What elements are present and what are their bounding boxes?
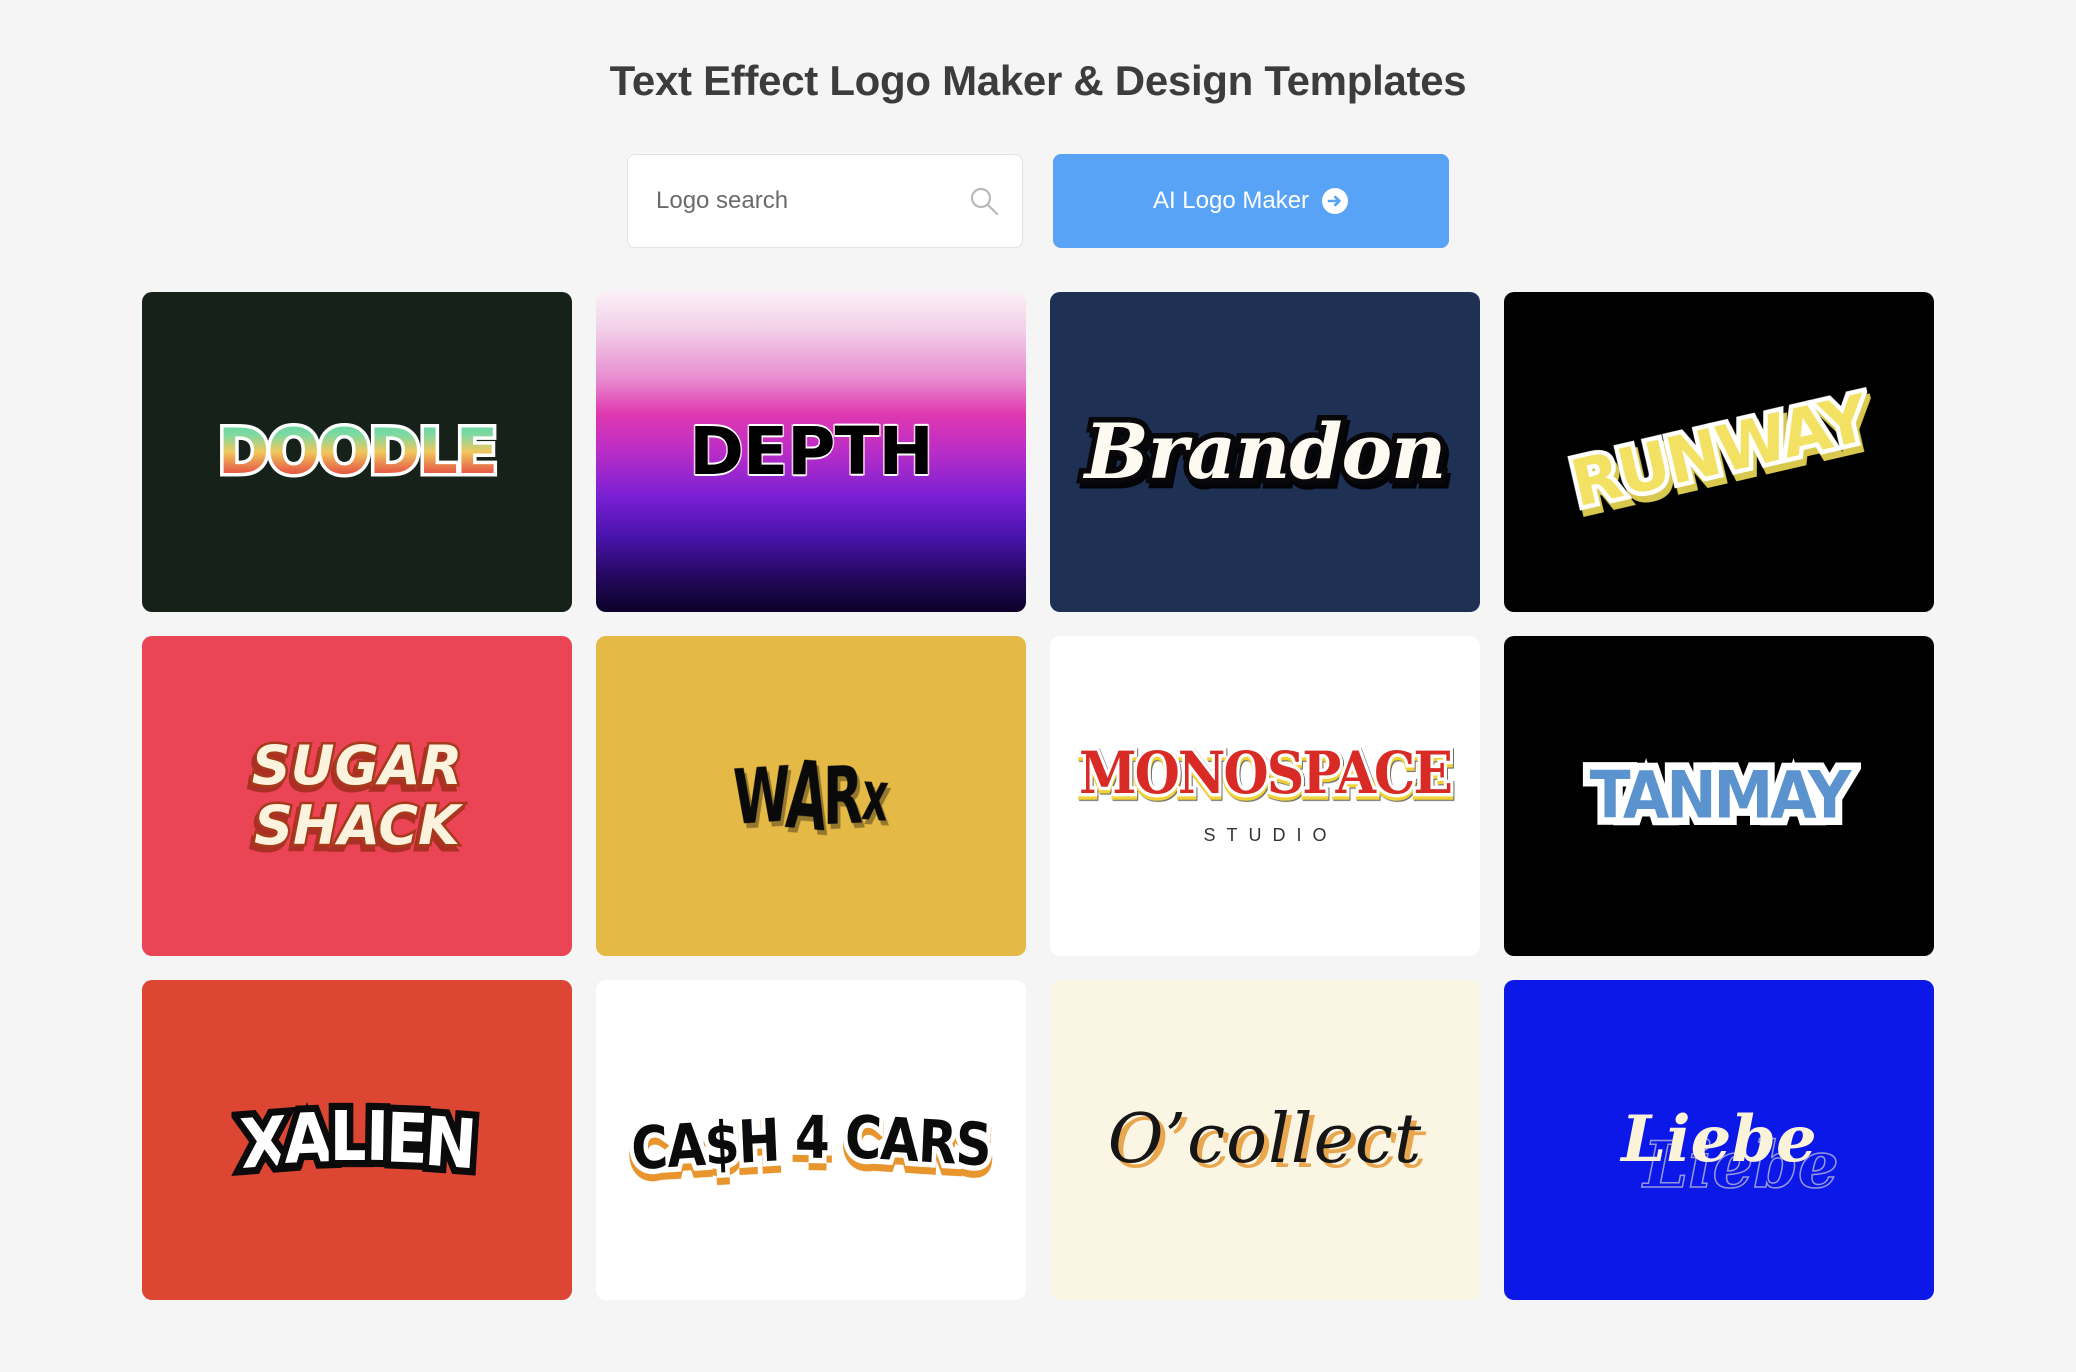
monospace-subtitle: STUDIO — [1192, 826, 1337, 844]
logo-card-sugar-shack[interactable]: SUGAR SHACK — [142, 636, 572, 956]
xalien-text: XALIEN — [240, 1106, 475, 1174]
xalien-letter: X — [238, 1108, 287, 1179]
monospace-text: MONOSPACE — [1079, 745, 1451, 803]
logo-artwork-monospace-studio: MONOSPACE STUDIO — [1079, 748, 1451, 844]
runway-text: RUNWAY — [1566, 387, 1873, 517]
search-row: AI Logo Maker — [0, 154, 2076, 248]
xalien-letter: L — [329, 1103, 366, 1171]
ai-logo-maker-label: AI Logo Maker — [1153, 187, 1309, 215]
page-title: Text Effect Logo Maker & Design Template… — [0, 0, 2076, 104]
logo-card-doodle[interactable]: DOODLE DOODLE DOODLE — [142, 292, 572, 612]
cash-4-cars-text: CA$H 4 CARS — [631, 1111, 992, 1170]
doodle-text: DOODLE — [218, 421, 496, 483]
logo-artwork-runway: RUNWAY — [1569, 420, 1869, 484]
xalien-letter: I — [365, 1103, 386, 1172]
depth-text: DEPTH — [689, 419, 933, 485]
ocollect-text: O’collect — [1108, 1106, 1423, 1174]
logo-card-xalien[interactable]: XALIEN — [142, 980, 572, 1300]
logo-artwork-liebe: Liebe Liebe — [1621, 1108, 1817, 1172]
arrow-circle-right-icon — [1321, 187, 1349, 215]
logo-card-warx[interactable]: WARx — [596, 636, 1026, 956]
logo-card-monospace-studio[interactable]: MONOSPACE STUDIO — [1050, 636, 1480, 956]
sugar-shack-line-1: SUGAR — [252, 739, 462, 793]
page-root: Text Effect Logo Maker & Design Template… — [0, 0, 2076, 1372]
logo-artwork-cash-4-cars: CA$H 4 CARS — [631, 1115, 992, 1165]
cash-word: CA$H — [630, 1111, 780, 1179]
search-input[interactable] — [628, 155, 1022, 247]
logo-artwork-depth: DEPTH — [689, 419, 933, 485]
logo-card-runway[interactable]: RUNWAY — [1504, 292, 1934, 612]
logo-card-depth[interactable]: DEPTH — [596, 292, 1026, 612]
tanmay-text: TANMAY — [1590, 764, 1849, 829]
sugar-shack-line-2: SHACK — [252, 799, 462, 853]
ai-logo-maker-button[interactable]: AI Logo Maker — [1053, 154, 1449, 248]
sugar-shack-text: SUGAR SHACK — [252, 739, 462, 853]
search-box[interactable] — [627, 154, 1023, 248]
warx-letter: x — [860, 761, 888, 831]
logo-card-tanmay[interactable]: TANMAY — [1504, 636, 1934, 956]
logo-artwork-tanmay: TANMAY — [1590, 766, 1849, 826]
logo-artwork-sugar-shack: SUGAR SHACK — [252, 739, 462, 853]
xalien-letter: A — [283, 1104, 330, 1174]
brandon-text: Brandon — [1085, 414, 1446, 490]
logo-artwork-ocollect: O’collect — [1108, 1106, 1423, 1174]
logo-artwork-warx: WARx — [733, 767, 889, 825]
logo-card-brandon[interactable]: Brandon — [1050, 292, 1480, 612]
logo-artwork-xalien: XALIEN — [240, 1109, 475, 1171]
logo-card-cash-4-cars[interactable]: CA$H 4 CARS — [596, 980, 1026, 1300]
cash-word: CARS — [844, 1107, 992, 1175]
xalien-letter: N — [423, 1108, 476, 1180]
warx-letter: R — [823, 756, 859, 837]
logo-card-ocollect[interactable]: O’collect — [1050, 980, 1480, 1300]
cash-word: 4 — [795, 1108, 830, 1168]
warx-letter: A — [783, 748, 827, 845]
logo-template-grid: DOODLE DOODLE DOODLE DEPTH Brandon RUNWA… — [147, 292, 1929, 1300]
liebe-text: Liebe — [1621, 1108, 1817, 1172]
xalien-letter: E — [385, 1104, 426, 1174]
logo-artwork-doodle: DOODLE DOODLE DOODLE — [218, 421, 496, 483]
warx-text: WARx — [732, 760, 890, 833]
warx-letter: W — [733, 756, 788, 836]
logo-card-liebe[interactable]: Liebe Liebe — [1504, 980, 1934, 1300]
logo-artwork-brandon: Brandon — [1085, 414, 1446, 490]
